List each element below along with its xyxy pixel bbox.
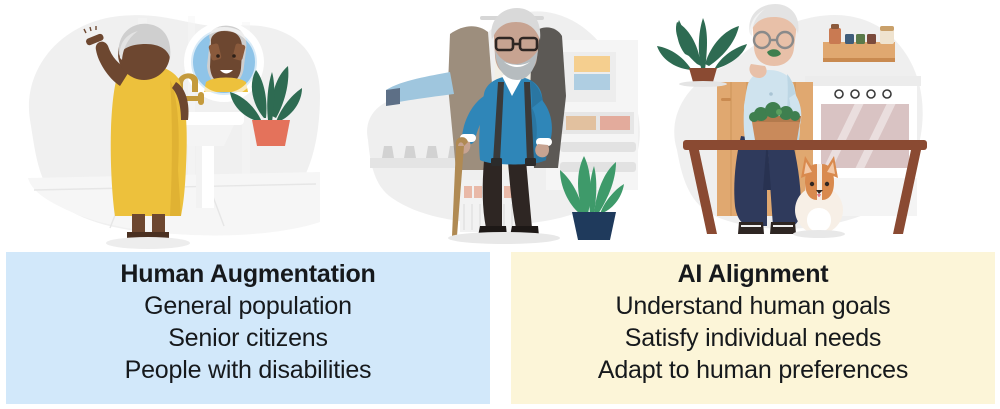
illustration-senior-woman-eating-salad	[655, 0, 955, 250]
ai-alignment-panel: AI Alignment Understand human goals Sati…	[511, 252, 995, 404]
left-sandal	[738, 222, 764, 234]
panel-left-line-2: Senior citizens	[6, 322, 490, 354]
illustration-strip	[0, 0, 1000, 250]
right-hand	[535, 144, 549, 157]
plant-pot	[252, 120, 290, 146]
panel-right-line-1: Understand human goals	[511, 290, 995, 322]
figure-shadow	[106, 237, 190, 249]
figure-shadow	[448, 232, 560, 244]
illustration-senior-woman-at-mirror	[20, 0, 340, 250]
panel-right-line-3: Adapt to human preferences	[511, 354, 995, 386]
palm-pot	[689, 68, 717, 82]
illustration-senior-man-with-cane	[360, 0, 660, 250]
panel-right-title: AI Alignment	[511, 258, 995, 290]
figure-root: Human Augmentation General population Se…	[0, 0, 1000, 409]
human-augmentation-panel: Human Augmentation General population Se…	[6, 252, 490, 404]
plant-pot	[572, 212, 616, 240]
panel-left-title: Human Augmentation	[6, 258, 490, 290]
right-sandal	[770, 222, 796, 234]
panel-left-line-3: People with disabilities	[6, 354, 490, 386]
panel-left-line-1: General population	[6, 290, 490, 322]
panel-right-line-2: Satisfy individual needs	[511, 322, 995, 354]
